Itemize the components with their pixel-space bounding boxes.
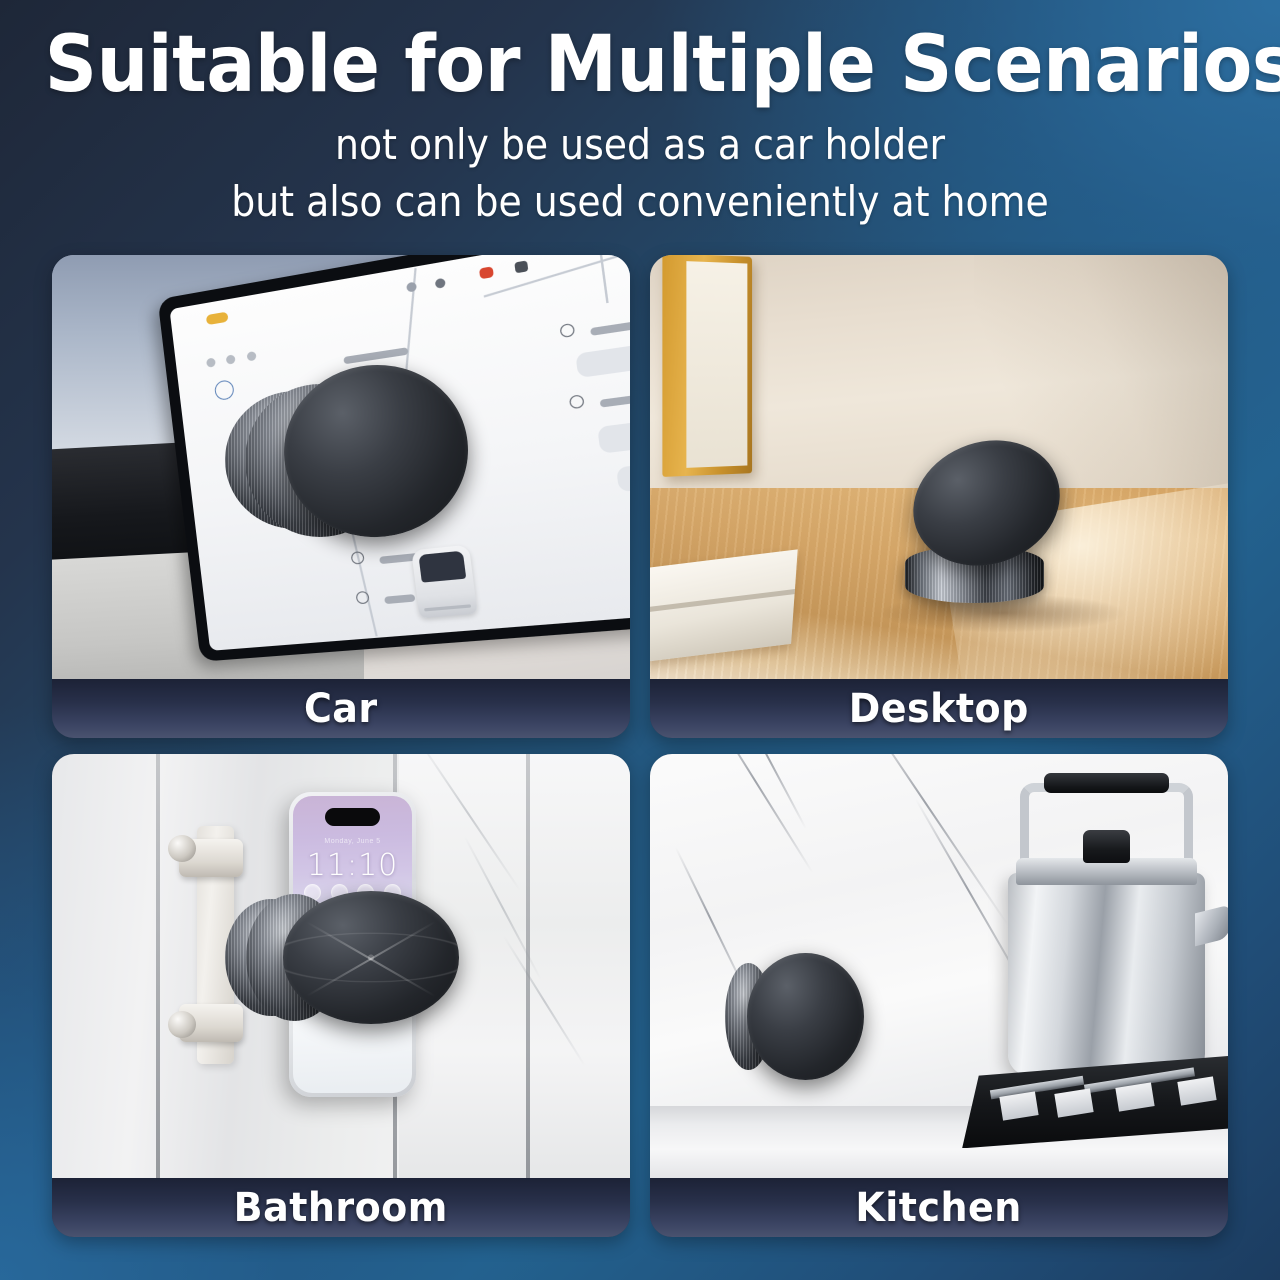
setting-chip[interactable] (616, 460, 630, 493)
kettle-knob (1083, 830, 1130, 863)
poster-header: Suitable for Multiple Scenarios not only… (0, 0, 1280, 240)
control-icon (226, 354, 236, 364)
gas-stove (962, 1055, 1228, 1148)
bathroom-scene-photo: Monday, June 5 11:10 (52, 754, 630, 1178)
magnetic-mount-product (899, 442, 1072, 616)
mount-magnet-disc (283, 891, 459, 1023)
menu-item-label (384, 594, 415, 604)
subtitle-line-2: but also can be used conveniently at hom… (64, 175, 1216, 230)
card-label-kitchen: Kitchen (856, 1185, 1022, 1231)
card-label-bathroom: Bathroom (234, 1185, 448, 1231)
mount-magnet-disc (747, 953, 864, 1080)
card-label-bar-bathroom: Bathroom (52, 1178, 630, 1237)
vehicle-icon (515, 261, 529, 274)
door-panel-line (526, 754, 530, 1178)
scenario-card-kitchen[interactable]: Kitchen (650, 754, 1228, 1237)
vehicle-render-icon (412, 545, 478, 619)
setting-label (600, 393, 630, 409)
scenario-card-car[interactable]: Car (52, 255, 630, 738)
card-label-bar-kitchen: Kitchen (650, 1178, 1228, 1237)
kettle-grip (1044, 773, 1170, 793)
map-road-icon (484, 255, 630, 297)
desktop-scene-photo (650, 255, 1228, 679)
setting-chip[interactable] (575, 343, 630, 378)
magnetic-mount-product (225, 365, 468, 552)
control-icon (246, 351, 256, 361)
status-icon (406, 282, 417, 293)
stainless-kettle (1008, 873, 1205, 1077)
setting-label (591, 318, 630, 336)
poster-root: Suitable for Multiple Scenarios not only… (0, 0, 1280, 1280)
status-icon (434, 279, 445, 290)
scenario-card-desktop[interactable]: Desktop (650, 255, 1228, 738)
dynamic-island-icon (325, 808, 380, 826)
status-indicator-icon (206, 312, 229, 326)
marble-vein (416, 754, 521, 892)
magsafe-alignment-icon (283, 891, 459, 1023)
subtitle-line-1: not only be used as a car holder (64, 118, 1216, 173)
card-label-desktop: Desktop (849, 686, 1029, 732)
setting-chip[interactable] (598, 417, 630, 455)
car-scene-photo (52, 255, 630, 679)
lock-screen-clock: 11:10 (293, 848, 412, 883)
menu-item-label (343, 347, 408, 364)
card-label-bar-desktop: Desktop (650, 679, 1228, 738)
kitchen-scene-photo (650, 754, 1228, 1178)
scenario-card-bathroom[interactable]: Monday, June 5 11:10 (52, 754, 630, 1237)
card-label-car: Car (304, 686, 378, 732)
stove-grate-gap (1055, 1088, 1094, 1118)
magnetic-mount-product (725, 953, 864, 1080)
map-road-icon (598, 255, 608, 303)
control-icon (206, 358, 216, 368)
picture-frame (662, 255, 752, 477)
alert-icon (480, 267, 495, 280)
setting-icon (569, 395, 585, 410)
magnetic-mount-product (225, 894, 456, 1021)
menu-item-icon (351, 552, 365, 566)
scenario-grid: Car (52, 255, 1228, 1237)
setting-icon (559, 324, 575, 339)
page-title: Suitable for Multiple Scenarios (45, 26, 1235, 104)
marble-vein (503, 936, 586, 1066)
door-panel-line (156, 754, 160, 1178)
lock-screen-date: Monday, June 5 (293, 838, 412, 845)
card-label-bar-car: Car (52, 679, 630, 738)
